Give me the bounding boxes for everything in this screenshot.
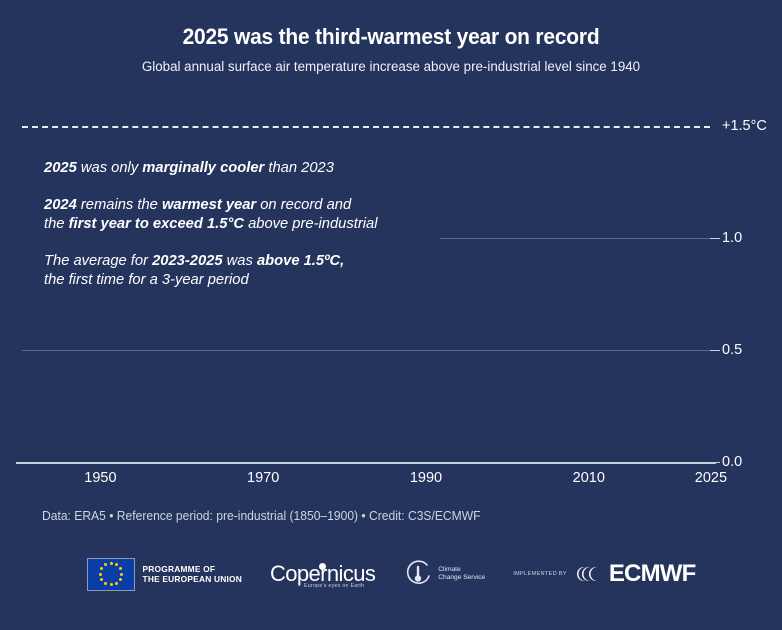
c3s-label: ClimateChange Service — [438, 566, 485, 582]
bar-2015 — [627, 267, 633, 462]
bar-2014 — [618, 296, 624, 462]
bar-1976 — [309, 433, 315, 462]
x-axis-label-2010: 2010 — [573, 470, 605, 486]
bar-1942 — [32, 413, 38, 462]
bar-1987 — [399, 370, 405, 462]
bar-1979 — [333, 381, 339, 462]
european-union-flag-icon — [87, 558, 135, 591]
bar-1991 — [431, 359, 437, 462]
bar-2004 — [537, 332, 543, 462]
bar-1974 — [293, 426, 299, 462]
bar-1988 — [407, 368, 413, 462]
bar-2005 — [545, 312, 551, 462]
eu-star-icon — [110, 583, 113, 586]
bar-1968 — [244, 419, 250, 462]
y-axis-label-1.0: 1.0 — [722, 230, 742, 246]
ecmwf-wordmark: ECMWF — [609, 560, 696, 588]
bar-1975 — [301, 417, 307, 462]
bar-2002 — [521, 323, 527, 462]
bar-1958 — [163, 404, 169, 462]
bar-2000 — [504, 357, 510, 462]
bar-1982 — [358, 395, 364, 462]
bar-2011 — [594, 325, 600, 462]
annot-3year-average: The average for 2023-2025 was above 1.5º… — [44, 251, 451, 290]
bar-1973 — [285, 384, 291, 462]
x-axis-label-1970: 1970 — [247, 470, 279, 486]
x-axis-label-1950: 1950 — [84, 470, 116, 486]
thermometer-circle-icon — [403, 559, 433, 589]
y-tick-0.5 — [710, 350, 720, 351]
bar-2020 — [667, 234, 673, 462]
bar-1962 — [195, 410, 201, 462]
bar-1985 — [382, 406, 388, 462]
bar-1955 — [138, 428, 144, 462]
footer-logos: PROGRAMME OFTHE EUROPEAN UNION Copernicu… — [0, 553, 782, 595]
bar-2017 — [643, 249, 649, 462]
bar-2007 — [561, 314, 567, 462]
bar-2021 — [675, 260, 681, 462]
bar-1956 — [146, 433, 152, 462]
bar-2018 — [651, 263, 657, 462]
bar-1990 — [423, 357, 429, 462]
bar-1970 — [260, 408, 266, 462]
bar-1986 — [390, 397, 396, 462]
bar-1998 — [488, 325, 494, 462]
y-axis-label-0.0: 0.0 — [722, 454, 742, 470]
bar-2012 — [602, 319, 608, 462]
bar-1959 — [171, 406, 177, 462]
eu-logo-group: PROGRAMME OFTHE EUROPEAN UNION — [87, 558, 242, 591]
x-axis-baseline — [16, 462, 716, 464]
bar-2025 — [708, 133, 714, 462]
copernicus-tagline: Europe's eyes on Earth — [304, 583, 364, 589]
copernicus-dot-icon — [319, 563, 326, 570]
eu-programme-line1: PROGRAMME OF — [143, 564, 216, 574]
y-tick-0.0 — [710, 462, 720, 463]
x-axis-label-2025: 2025 — [695, 470, 727, 486]
eu-star-icon — [99, 573, 102, 576]
bar-2019 — [659, 238, 665, 462]
bar-2010 — [586, 301, 592, 462]
bar-1952 — [114, 404, 120, 462]
c3s-line2: Change Service — [438, 574, 485, 581]
bar-2001 — [513, 337, 519, 462]
bar-1963 — [203, 399, 209, 462]
bar-1992 — [439, 388, 445, 462]
threshold-label: +1.5°C — [722, 118, 767, 134]
bar-1995 — [464, 354, 470, 462]
bar-1941 — [24, 397, 30, 462]
eu-star-icon — [115, 582, 118, 585]
bar-1997 — [480, 346, 486, 462]
eu-star-icon — [110, 562, 113, 565]
implemented-by-label: IMPLEMENTED BY — [513, 571, 567, 577]
bar-1954 — [130, 422, 136, 462]
bar-1946 — [65, 415, 71, 462]
eu-star-icon — [100, 567, 103, 570]
chart-plot-area: 0.00.51.0+1.5°C 19501970199020102025 — [0, 0, 782, 630]
bar-2023 — [692, 130, 698, 462]
bar-1965 — [220, 431, 226, 462]
bar-1943 — [40, 406, 46, 462]
bar-2003 — [529, 323, 535, 462]
bar-1989 — [415, 384, 421, 462]
bar-1949 — [89, 417, 95, 462]
bar-1948 — [81, 408, 87, 462]
bar-1994 — [456, 372, 462, 462]
y-tick-1.0 — [710, 238, 720, 239]
bar-1977 — [317, 395, 323, 462]
bar-1944 — [49, 388, 55, 462]
bar-1969 — [252, 402, 258, 462]
bar-1971 — [268, 426, 274, 462]
eu-programme-line2: THE EUROPEAN UNION — [143, 574, 242, 584]
bar-1951 — [106, 410, 112, 462]
bar-2008 — [570, 339, 576, 462]
bar-1960 — [179, 415, 185, 462]
bar-1961 — [187, 402, 193, 462]
ecmwf-cloud-icon — [575, 563, 605, 585]
bar-1967 — [236, 417, 242, 462]
bar-2024 — [700, 104, 706, 462]
eu-star-icon — [100, 578, 103, 581]
annotation-block: 2025 was only marginally cooler than 202… — [44, 158, 464, 307]
credit-line: Data: ERA5 • Reference period: pre-indus… — [42, 509, 481, 523]
eu-star-icon — [120, 573, 123, 576]
bar-2016 — [635, 238, 641, 462]
bar-2009 — [578, 316, 584, 462]
x-axis-label-1990: 1990 — [410, 470, 442, 486]
copernicus-logo: Copernicus Europe's eyes on Earth — [270, 561, 375, 587]
bar-1999 — [496, 357, 502, 462]
bar-1945 — [57, 408, 63, 462]
bar-1940 — [16, 410, 22, 462]
eu-star-icon — [104, 563, 107, 566]
bar-1964 — [211, 435, 217, 462]
bar-series — [0, 0, 782, 630]
annot-2025-cooler: 2025 was only marginally cooler than 202… — [44, 158, 451, 178]
annot-2024-warmest: 2024 remains the warmest year on record … — [44, 195, 451, 234]
bar-1983 — [366, 366, 372, 462]
y-axis-label-0.5: 0.5 — [722, 342, 742, 358]
ecmwf-logo: IMPLEMENTED BY ECMWF — [513, 560, 695, 588]
eu-star-icon — [104, 582, 107, 585]
bar-1981 — [350, 372, 356, 462]
eu-star-icon — [119, 567, 122, 570]
bar-2006 — [553, 321, 559, 462]
bar-1966 — [228, 417, 234, 462]
bar-1957 — [154, 406, 160, 462]
bar-1996 — [472, 377, 478, 462]
bar-2022 — [683, 254, 689, 462]
c3s-line1: Climate — [438, 566, 460, 573]
bar-1978 — [325, 406, 331, 462]
eu-programme-label: PROGRAMME OFTHE EUROPEAN UNION — [143, 564, 242, 584]
bar-2013 — [610, 312, 616, 462]
bar-1972 — [276, 410, 282, 462]
climate-change-service-logo: ClimateChange Service — [403, 559, 485, 589]
bar-1953 — [122, 397, 128, 462]
bar-1993 — [447, 386, 453, 462]
copernicus-c: C — [270, 561, 285, 586]
bar-1984 — [374, 399, 380, 462]
bar-1980 — [342, 381, 348, 462]
eu-star-icon — [115, 563, 118, 566]
bar-1947 — [73, 406, 79, 462]
bar-1950 — [97, 433, 103, 462]
eu-star-icon — [119, 578, 122, 581]
